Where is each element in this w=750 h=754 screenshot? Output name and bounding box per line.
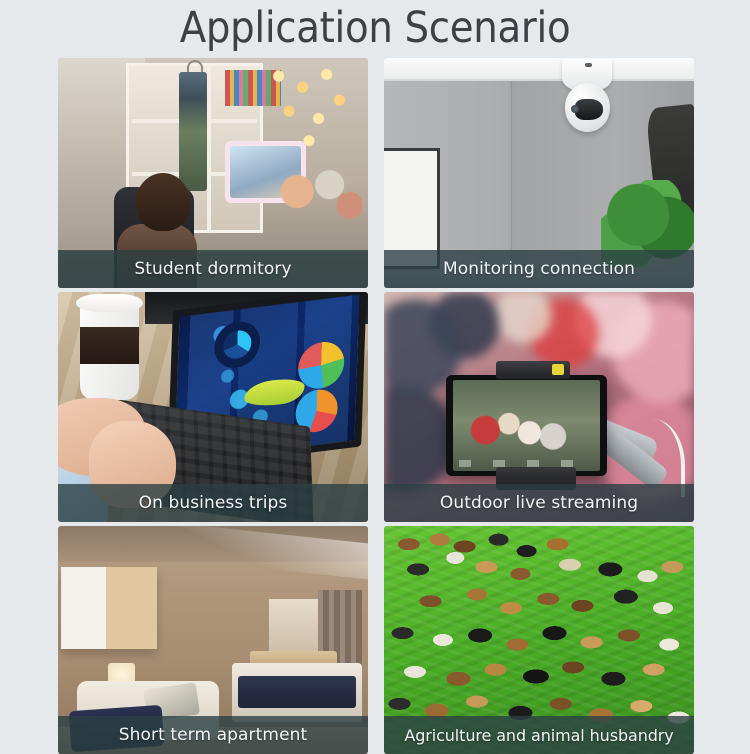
caption-bar-outdoor-live-streaming: Outdoor live streaming [384,484,694,522]
scenario-card-student-dormitory[interactable]: Student dormitory [58,58,368,288]
caption-bar-on-business-trips: On business trips [58,484,368,522]
caption-bar-monitoring-connection: Monitoring connection [384,250,694,288]
scenario-card-monitoring-connection[interactable]: Monitoring connection [384,58,694,288]
caption-label: Monitoring connection [443,259,635,279]
caption-label: Outdoor live streaming [440,493,638,513]
dorm-plush-toys [281,164,362,233]
caption-bar-student-dormitory: Student dormitory [58,250,368,288]
dorm-shelf-divider [207,63,211,233]
caption-label: Short term apartment [119,725,308,745]
scenario-card-agriculture-and-animal-husbandry[interactable]: Agriculture and animal husbandry [384,526,694,754]
caption-bar-short-term-apartment: Short term apartment [58,716,368,754]
coffee-cup-sleeve [80,327,139,363]
application-scenario-page: Application Scenario [0,0,750,750]
gimbal-yellow-tab [552,364,564,375]
camera-ceiling [384,58,694,81]
camera-wall-seam [511,79,512,268]
security-camera-lens [575,99,603,120]
apartment-bed-blanket [238,676,356,708]
scenario-card-on-business-trips[interactable]: On business trips [58,292,368,522]
security-camera-indicator [585,63,592,67]
scenario-grid: Student dormitory Monitoring [58,58,694,750]
caption-label: On business trips [139,493,288,513]
streaming-phone-screen [453,380,600,471]
security-camera-ir-sensor [571,105,579,113]
scenario-card-short-term-apartment[interactable]: Short term apartment [58,526,368,754]
gimbal-clamp-top [496,361,570,379]
caption-label: Agriculture and animal husbandry [404,726,673,745]
caption-label: Student dormitory [134,259,291,279]
coffee-cup-lid [76,294,143,312]
dorm-student-head [136,173,190,231]
caption-bar-agriculture-and-animal-husbandry: Agriculture and animal husbandry [384,716,694,754]
streaming-phone [446,375,607,476]
apartment-wall-cabinet [61,567,157,649]
dorm-hanging-organizer [179,72,207,192]
coffee-cup [80,299,139,400]
page-title: Application Scenario [0,2,750,54]
scenario-card-outdoor-live-streaming[interactable]: Outdoor live streaming [384,292,694,522]
